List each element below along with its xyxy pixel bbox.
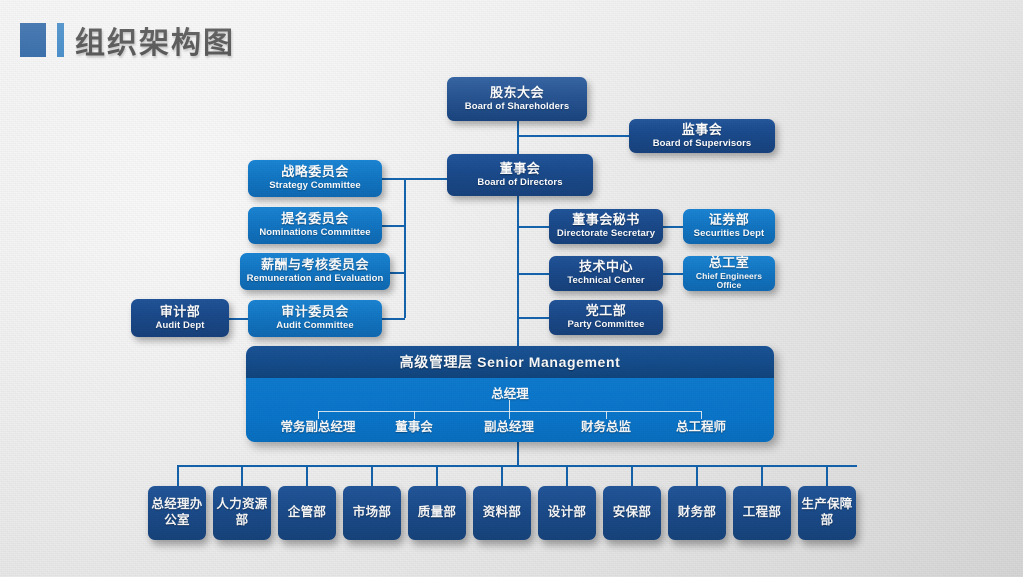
department-box[interactable]: 财务部	[668, 486, 726, 540]
connector-department-bus	[177, 465, 857, 467]
sm-role-4[interactable]: 财务总监	[559, 416, 653, 435]
node-securities-dept[interactable]: 证券部 Securities Dept	[683, 209, 775, 244]
node-board-of-shareholders[interactable]: 股东大会 Board of Shareholders	[447, 77, 587, 121]
node-audit-dept[interactable]: 审计部 Audit Dept	[131, 299, 229, 337]
node-technical-center[interactable]: 技术中心 Technical Center	[549, 256, 663, 291]
node-label-cn: 总工室	[709, 256, 750, 271]
node-label-cn: 薪酬与考核委员会	[261, 258, 369, 273]
department-box[interactable]: 质量部	[408, 486, 466, 540]
node-chief-engineers-office[interactable]: 总工室 Chief Engineers Office	[683, 256, 775, 291]
connector-dept-drop-10	[761, 465, 763, 486]
node-label-en: Remuneration and Evaluation	[247, 274, 384, 285]
node-label-cn: 技术中心	[579, 260, 633, 275]
connector-committee-bus	[404, 178, 406, 318]
connector-right-2	[517, 273, 550, 275]
node-nominations-committee[interactable]: 提名委员会 Nominations Committee	[248, 207, 382, 244]
department-box[interactable]: 工程部	[733, 486, 791, 540]
node-board-of-directors[interactable]: 董事会 Board of Directors	[447, 154, 593, 196]
department-box[interactable]: 设计部	[538, 486, 596, 540]
senior-management-panel: 高级管理层 Senior Management 总经理 常务副总经理 董事会 副…	[246, 346, 774, 442]
node-label-en: Board of Supervisors	[653, 139, 752, 150]
connector-dept-drop-1	[177, 465, 179, 486]
connector-sm-to-departments	[517, 442, 519, 466]
node-label-en: Nominations Committee	[259, 228, 370, 239]
senior-management-body: 总经理 常务副总经理 董事会 副总经理 财务总监 总工程师	[246, 378, 774, 442]
connector-dept-drop-11	[826, 465, 828, 486]
node-board-of-supervisors[interactable]: 监事会 Board of Supervisors	[629, 119, 775, 153]
page-title-text: 组织架构图	[75, 18, 235, 62]
department-box[interactable]: 资料部	[473, 486, 531, 540]
sm-role-2[interactable]: 董事会	[369, 416, 459, 435]
connector-to-supervisors	[517, 135, 630, 137]
department-box[interactable]: 安保部	[603, 486, 661, 540]
connector-dept-drop-3	[306, 465, 308, 486]
department-box[interactable]: 生产保障部	[798, 486, 856, 540]
node-label-en: Chief Engineers Office	[683, 272, 775, 292]
node-label-cn: 董事会	[500, 162, 541, 177]
department-box[interactable]: 总经理办公室	[148, 486, 206, 540]
node-audit-committee[interactable]: 审计委员会 Audit Committee	[248, 300, 382, 337]
title-accent-bar-primary	[20, 23, 46, 57]
node-label-cn: 审计委员会	[281, 305, 349, 320]
node-label-en: Board of Directors	[477, 178, 562, 189]
connector-committee-2	[381, 225, 405, 227]
connector-dept-drop-5	[436, 465, 438, 486]
node-label-cn: 监事会	[682, 123, 723, 138]
node-label-cn: 党工部	[586, 304, 627, 319]
page-title: 组织架构图	[20, 18, 235, 62]
node-label-cn: 战略委员会	[281, 165, 349, 180]
node-label-en: Technical Center	[567, 276, 644, 287]
senior-management-header: 高级管理层 Senior Management	[246, 346, 774, 378]
connector-techcenter-to-chiefeng	[662, 273, 684, 275]
node-strategy-committee[interactable]: 战略委员会 Strategy Committee	[248, 160, 382, 197]
title-accent-bar-secondary	[57, 23, 64, 57]
connector-dept-drop-8	[631, 465, 633, 486]
connector-dept-drop-9	[696, 465, 698, 486]
node-party-committee[interactable]: 党工部 Party Committee	[549, 300, 663, 335]
connector-directors-trunk	[517, 195, 519, 346]
node-label-en: Audit Dept	[155, 321, 204, 332]
node-label-en: Strategy Committee	[269, 181, 361, 192]
connector-right-1	[517, 226, 550, 228]
connector-dept-drop-6	[501, 465, 503, 486]
node-label-cn: 董事会秘书	[572, 213, 640, 228]
node-label-cn: 审计部	[160, 305, 201, 320]
connector-committee-1	[381, 178, 405, 180]
connector-dept-drop-2	[241, 465, 243, 486]
sm-role-3[interactable]: 副总经理	[457, 416, 561, 435]
sm-role-5[interactable]: 总工程师	[653, 416, 749, 435]
sm-role-1[interactable]: 常务副总经理	[263, 416, 373, 435]
node-label-cn: 证券部	[709, 213, 750, 228]
department-box[interactable]: 人力资源部	[213, 486, 271, 540]
connector-committee-4	[381, 318, 405, 320]
department-box[interactable]: 企管部	[278, 486, 336, 540]
node-label-en: Securities Dept	[694, 229, 765, 240]
connector-dept-drop-4	[371, 465, 373, 486]
node-label-en: Board of Shareholders	[465, 102, 570, 113]
node-remuneration-evaluation-committee[interactable]: 薪酬与考核委员会 Remuneration and Evaluation	[240, 253, 390, 290]
node-label-en: Party Committee	[568, 320, 645, 331]
node-label-cn: 提名委员会	[281, 212, 349, 227]
connector-right-3	[517, 317, 550, 319]
department-box[interactable]: 市场部	[343, 486, 401, 540]
node-label-en: Directorate Secretary	[557, 229, 655, 240]
connector-dept-drop-7	[566, 465, 568, 486]
connector-audit-dept-to-audit-committee	[228, 318, 250, 320]
connector-secretary-to-securities	[662, 226, 684, 228]
node-label-en: Audit Committee	[276, 321, 354, 332]
node-directorate-secretary[interactable]: 董事会秘书 Directorate Secretary	[549, 209, 663, 244]
org-chart-slide: 组织架构图 股东大会 Board of Shareholders 监事会 Boa…	[0, 0, 1023, 577]
node-label-cn: 股东大会	[490, 86, 544, 101]
